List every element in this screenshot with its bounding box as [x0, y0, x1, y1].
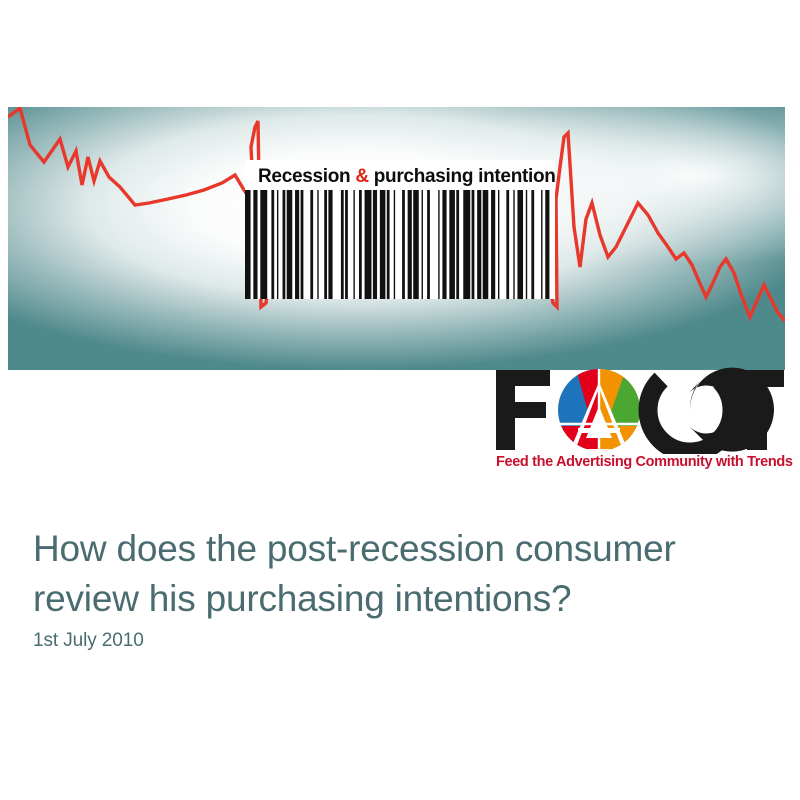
barcode-bar — [531, 190, 534, 299]
fact-letter-t-stem — [748, 370, 767, 450]
presentation-date: 1st July 2010 — [33, 630, 144, 652]
barcode-caption-ampersand: & — [355, 166, 368, 187]
page-title: How does the post-recession consumer rev… — [33, 524, 763, 624]
barcode-bars-svg — [245, 190, 555, 299]
barcode-bar — [353, 190, 354, 299]
barcode-bar — [491, 190, 495, 299]
barcode-bar — [260, 190, 267, 299]
barcode-bar — [427, 190, 430, 299]
barcode-bar — [408, 190, 412, 299]
page-title-line-2: review his purchasing intentions? — [33, 574, 763, 624]
barcode-bar — [449, 190, 455, 299]
barcode-bar — [472, 190, 475, 299]
fact-tagline: Feed the Advertising Community with Tren… — [496, 454, 790, 470]
barcode-bar — [310, 190, 313, 299]
barcode-caption: Recession & purchasing intention — [258, 165, 548, 189]
barcode-bar — [253, 190, 257, 299]
barcode-bar — [365, 190, 372, 299]
barcode-bar — [380, 190, 386, 299]
barcode-bar — [422, 190, 423, 299]
fact-letter-f — [496, 370, 550, 450]
barcode-bar — [456, 190, 459, 299]
barcode-bar — [317, 190, 318, 299]
barcode-bar — [328, 190, 332, 299]
barcode-bar — [483, 190, 489, 299]
barcode-bar — [283, 190, 286, 299]
barcode-bar — [295, 190, 299, 299]
barcode-bar — [545, 190, 549, 299]
barcode-bar — [301, 190, 304, 299]
barcode-bar — [498, 190, 499, 299]
barcode-bar — [394, 190, 395, 299]
barcode-bar — [402, 190, 405, 299]
barcode-bar — [463, 190, 470, 299]
barcode-bar — [517, 190, 523, 299]
barcode-bar — [359, 190, 362, 299]
barcode-bar — [245, 190, 251, 299]
fact-wordmark-svg — [494, 366, 784, 454]
barcode-bar — [277, 190, 278, 299]
fact-letter-a-emblem — [558, 369, 640, 453]
barcode-caption-after: purchasing intention — [369, 166, 556, 187]
barcode-bar — [442, 190, 446, 299]
barcode-bar — [341, 190, 344, 299]
barcode-caption-before: Recession — [258, 166, 355, 187]
barcode-bar — [287, 190, 293, 299]
barcode-bar — [506, 190, 509, 299]
barcode-bars — [245, 190, 555, 299]
barcode-bar — [324, 190, 327, 299]
barcode-bar — [477, 190, 481, 299]
barcode-graphic: Recession & purchasing intention — [245, 160, 555, 299]
barcode-bar — [271, 190, 274, 299]
barcode-bar — [345, 190, 348, 299]
fact-wordmark — [494, 366, 784, 454]
barcode-bar — [526, 190, 527, 299]
fact-logo: Feed the Advertising Community with Tren… — [494, 366, 790, 478]
barcode-bar — [413, 190, 419, 299]
barcode-bar — [438, 190, 439, 299]
barcode-bar — [387, 190, 390, 299]
barcode-bar — [541, 190, 542, 299]
page-title-line-1: How does the post-recession consumer — [33, 524, 763, 574]
barcode-bar — [513, 190, 514, 299]
barcode-bar — [373, 190, 377, 299]
